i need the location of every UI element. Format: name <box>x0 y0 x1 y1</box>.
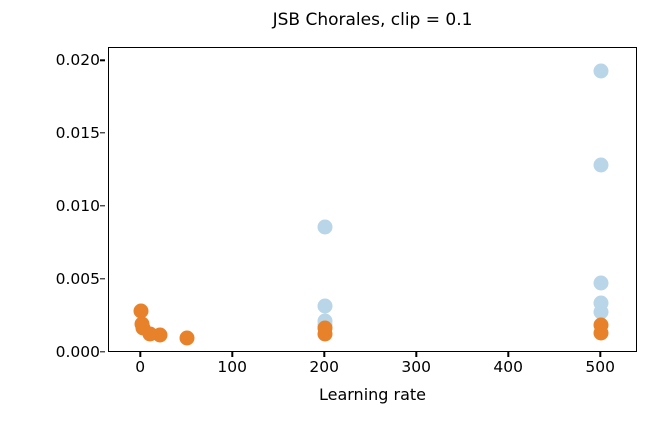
data-point-orange <box>180 331 195 346</box>
y-axis-label: Training set loss <box>0 0 28 75</box>
data-point-blue <box>318 220 333 235</box>
y-tick-mark <box>100 132 105 133</box>
x-tick-label: 400 <box>493 358 523 376</box>
y-tick-mark <box>100 205 105 206</box>
y-axis-tick-labels: 0.0000.0050.0100.0150.020 <box>32 47 100 352</box>
x-tick-label: 500 <box>585 358 615 376</box>
x-tick-mark <box>599 352 600 357</box>
x-tick-label: 100 <box>217 358 247 376</box>
plot-area <box>108 47 637 352</box>
y-tick-mark <box>100 278 105 279</box>
y-tick-label: 0.000 <box>56 343 100 361</box>
x-axis-label: Learning rate <box>108 385 637 404</box>
x-tick-label: 0 <box>135 358 145 376</box>
x-tick-mark <box>139 352 140 357</box>
y-tick-label: 0.010 <box>56 197 100 215</box>
y-tick-label: 0.020 <box>56 51 100 69</box>
x-tick-label: 300 <box>401 358 431 376</box>
y-tick-label: 0.015 <box>56 124 100 142</box>
data-point-orange <box>152 328 167 343</box>
y-tick-mark <box>100 59 105 60</box>
x-tick-mark <box>507 352 508 357</box>
x-axis-tick-labels: 0100200300400500 <box>108 352 637 382</box>
x-tick-mark <box>231 352 232 357</box>
y-tick-label: 0.005 <box>56 270 100 288</box>
data-point-blue <box>594 157 609 172</box>
x-tick-label: 200 <box>309 358 339 376</box>
data-point-orange <box>318 327 333 342</box>
x-tick-mark <box>415 352 416 357</box>
data-point-blue <box>594 275 609 290</box>
data-point-orange <box>594 325 609 340</box>
page-title: JSB Chorales, clip = 0.1 <box>108 10 637 30</box>
y-tick-mark <box>100 351 105 352</box>
scatter-plot-figure: JSB Chorales, clip = 0.1 Training set lo… <box>0 0 656 423</box>
data-point-blue <box>594 64 609 79</box>
data-point-blue <box>318 299 333 314</box>
x-tick-mark <box>323 352 324 357</box>
